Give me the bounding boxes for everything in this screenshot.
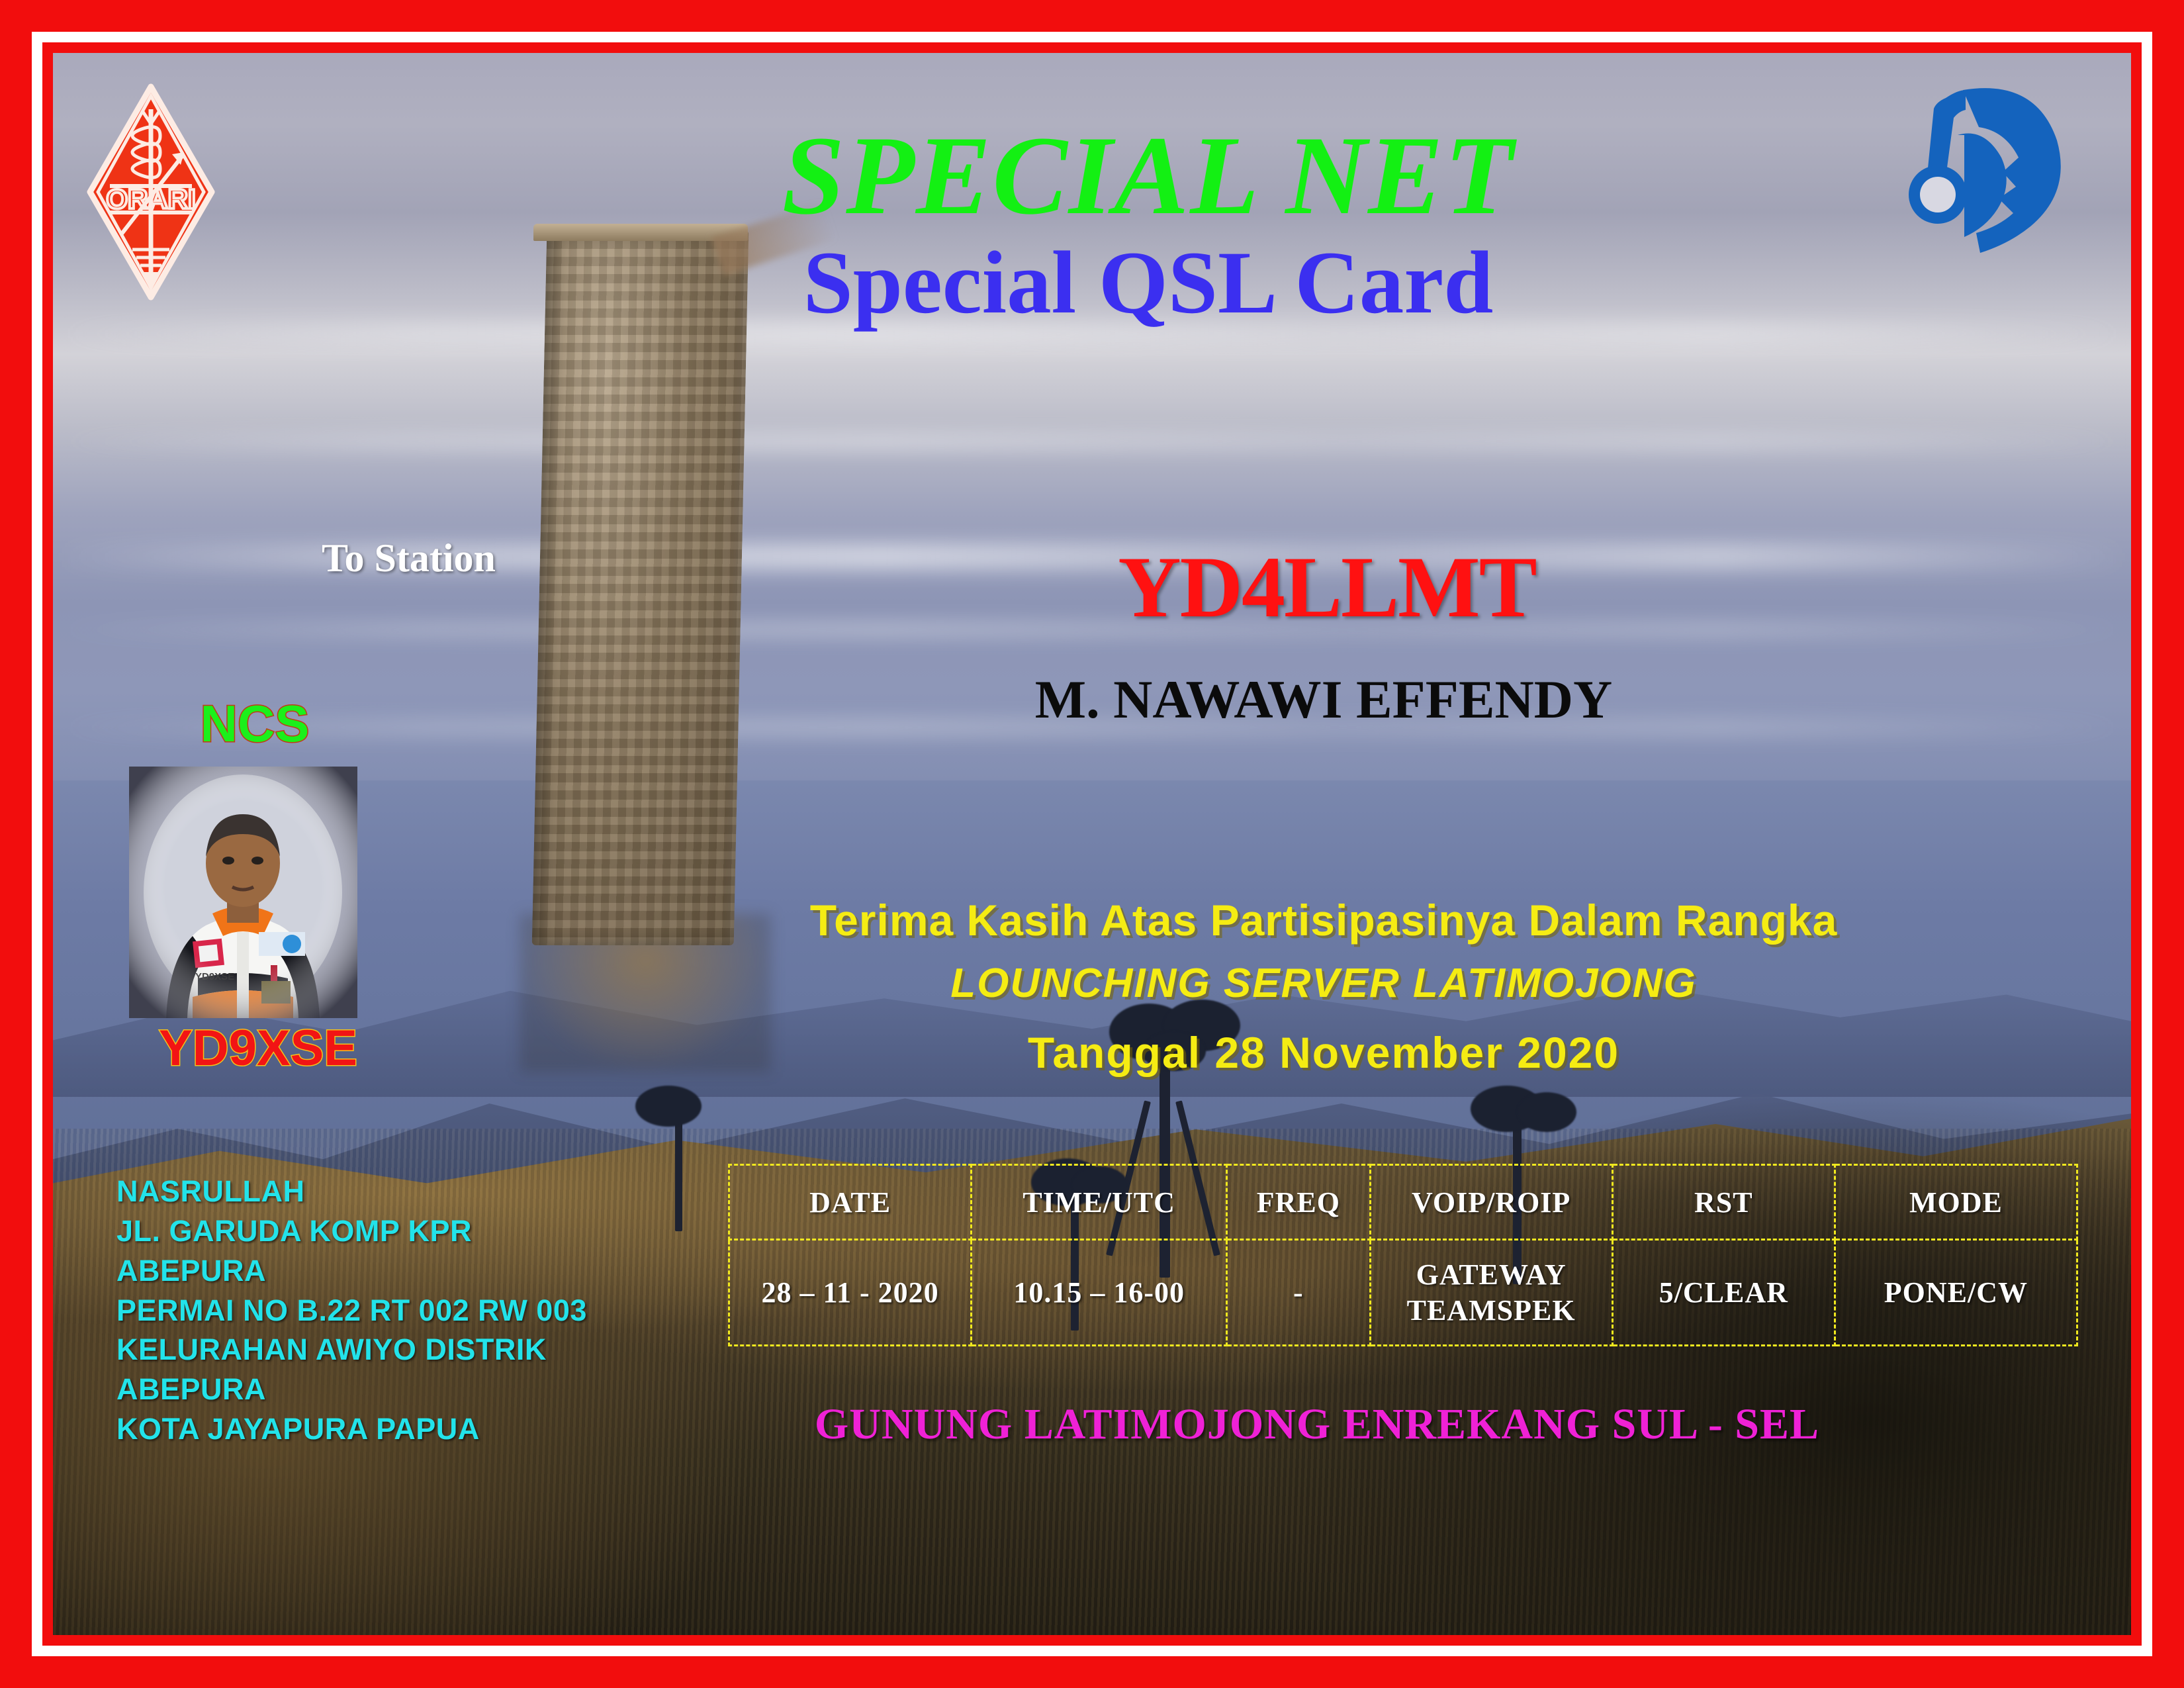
thanks-line-2-event: LOUNCHING SERVER LATIMOJONG (53, 960, 2131, 1007)
cell-voip: GATEWAY TEAMSPEK (1370, 1240, 1612, 1346)
address-line: PERMAI NO B.22 RT 002 RW 003 (116, 1291, 633, 1331)
column-header-voip: VOIP/ROIP (1370, 1165, 1612, 1240)
cell-freq: - (1227, 1240, 1370, 1346)
slogan-text: "AMATIR RADIO ADALAH PROGRESIVE" (131, 1630, 1114, 1635)
cell-date: 28 – 11 - 2020 (729, 1240, 972, 1346)
ncs-operator-avatar: YD9XSE (129, 767, 357, 1018)
cell-rst: 5/CLEAR (1612, 1240, 1835, 1346)
qso-details-table: DATE TIME/UTC FREQ VOIP/ROIP RST MODE 28… (728, 1164, 2078, 1346)
column-header-date: DATE (729, 1165, 972, 1240)
table-header-row: DATE TIME/UTC FREQ VOIP/ROIP RST MODE (729, 1165, 2077, 1240)
address-line: NASRULLAH (116, 1172, 633, 1211)
cell-mode: PONE/CW (1835, 1240, 2077, 1346)
station-callsign: YD4LLMT (53, 536, 2131, 637)
page-subtitle-special-qsl-card: Special QSL Card (53, 232, 2131, 334)
column-header-rst: RST (1612, 1165, 1835, 1240)
ncs-callsign: YD9XSE (119, 1019, 397, 1077)
location-line: GUNUNG LATIMOJONG ENREKANG SUL - SEL (53, 1399, 2131, 1450)
column-header-mode: MODE (1835, 1165, 2077, 1240)
thanks-line-1: Terima Kasih Atas Partisipasinya Dalam R… (53, 895, 2131, 945)
address-line: ABEPURA (116, 1251, 633, 1291)
cloud-band (53, 433, 2131, 450)
cell-time: 10.15 – 16-00 (972, 1240, 1227, 1346)
qsl-card: ORARI SPECIAL NET S (0, 0, 2184, 1688)
address-line: JL. GARUDA KOMP KPR (116, 1211, 633, 1251)
web-address-text: Address : amatir.latimojong.com (1385, 1630, 2052, 1635)
column-header-time: TIME/UTC (972, 1165, 1227, 1240)
ncs-label: NCS (156, 694, 354, 754)
page-title-special-net: SPECIAL NET (53, 111, 2131, 240)
column-header-freq: FREQ (1227, 1165, 1370, 1240)
station-operator-name: M. NAWAWI EFFENDY (53, 669, 2131, 731)
tree-silhouette (629, 1086, 728, 1231)
card-photo-background: ORARI SPECIAL NET S (53, 53, 2131, 1635)
table-row: 28 – 11 - 2020 10.15 – 16-00 - GATEWAY T… (729, 1240, 2077, 1346)
address-line: KELURAHAN AWIYO DISTRIK (116, 1330, 633, 1370)
